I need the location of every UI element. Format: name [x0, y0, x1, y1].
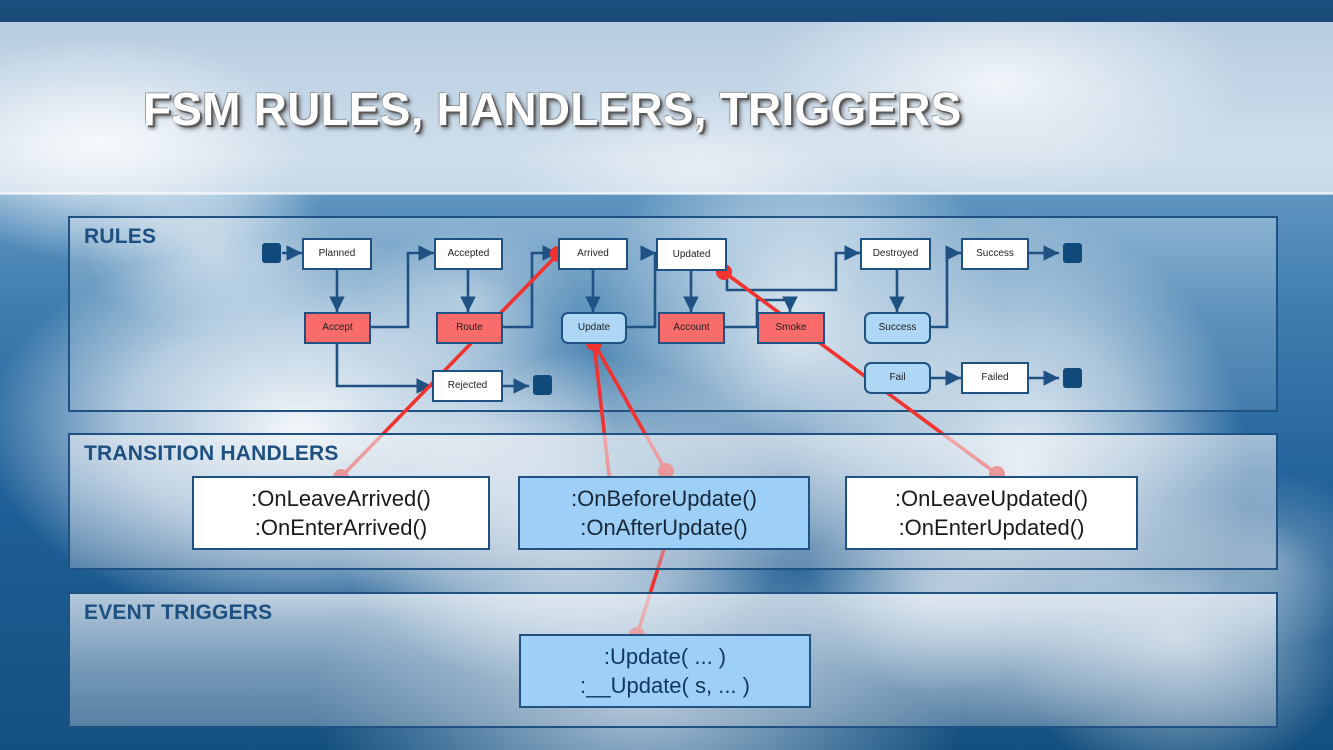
- trigger-line-2: :__Update( s, ... ): [580, 672, 750, 701]
- fsm-node-label: Success: [976, 249, 1014, 259]
- fsm-node-accepted[interactable]: Accepted: [434, 238, 503, 270]
- slide-canvas: FSM RULES, HANDLERS, TRIGGERS RULES: [0, 0, 1333, 750]
- fsm-action-fail[interactable]: Fail: [864, 362, 931, 394]
- handler-card-updated[interactable]: :OnLeaveUpdated() :OnEnterUpdated(): [845, 476, 1138, 550]
- handler-line-2: :OnEnterArrived(): [255, 514, 427, 543]
- page-title: FSM RULES, HANDLERS, TRIGGERS: [143, 82, 962, 136]
- section-title-rules: RULES: [84, 225, 156, 249]
- handler-line-1: :OnLeaveArrived(): [251, 485, 431, 514]
- handler-card-update[interactable]: :OnBeforeUpdate() :OnAfterUpdate(): [518, 476, 810, 550]
- fsm-node-label: Route: [456, 323, 483, 333]
- fsm-node-label: Smoke: [775, 323, 806, 333]
- trigger-card-update[interactable]: :Update( ... ) :__Update( s, ... ): [519, 634, 811, 708]
- fsm-node-updated[interactable]: Updated: [656, 238, 727, 271]
- fsm-action-accept[interactable]: Accept: [304, 312, 371, 344]
- top-accent-bar: [0, 0, 1333, 22]
- fsm-node-label: Success: [879, 323, 917, 333]
- handler-card-arrived[interactable]: :OnLeaveArrived() :OnEnterArrived(): [192, 476, 490, 550]
- section-title-event-triggers: EVENT TRIGGERS: [84, 601, 272, 625]
- fsm-node-destroyed[interactable]: Destroyed: [860, 238, 931, 270]
- fsm-node-label: Failed: [981, 373, 1008, 383]
- fsm-action-update[interactable]: Update: [561, 312, 627, 344]
- fsm-action-account[interactable]: Account: [658, 312, 725, 344]
- fsm-node-label: Update: [578, 323, 610, 333]
- fsm-node-label: Account: [673, 323, 709, 333]
- fsm-action-smoke[interactable]: Smoke: [757, 312, 825, 344]
- terminal-failed-end: [1063, 368, 1082, 388]
- fsm-node-label: Updated: [673, 250, 711, 260]
- terminal-success-end: [1063, 243, 1082, 263]
- fsm-node-label: Accept: [322, 323, 353, 333]
- handler-line-1: :OnLeaveUpdated(): [895, 485, 1088, 514]
- fsm-node-label: Planned: [319, 249, 356, 259]
- section-title-transition-handlers: TRANSITION HANDLERS: [84, 442, 339, 466]
- banner-divider: [0, 192, 1333, 195]
- fsm-node-label: Fail: [889, 373, 905, 383]
- handler-line-1: :OnBeforeUpdate(): [571, 485, 757, 514]
- fsm-node-planned[interactable]: Planned: [302, 238, 372, 270]
- terminal-rejected-end: [533, 375, 552, 395]
- fsm-node-label: Rejected: [448, 381, 487, 391]
- handler-line-2: :OnAfterUpdate(): [580, 514, 748, 543]
- fsm-action-route[interactable]: Route: [436, 312, 503, 344]
- fsm-node-label: Destroyed: [873, 249, 919, 259]
- handler-line-2: :OnEnterUpdated(): [899, 514, 1085, 543]
- fsm-node-arrived[interactable]: Arrived: [558, 238, 628, 270]
- fsm-node-success[interactable]: Success: [961, 238, 1029, 270]
- trigger-line-1: :Update( ... ): [604, 643, 726, 672]
- fsm-action-success[interactable]: Success: [864, 312, 931, 344]
- fsm-node-failed[interactable]: Failed: [961, 362, 1029, 394]
- terminal-start-node: [262, 243, 281, 263]
- fsm-node-rejected[interactable]: Rejected: [432, 370, 503, 402]
- fsm-node-label: Arrived: [577, 249, 609, 259]
- fsm-node-label: Accepted: [448, 249, 490, 259]
